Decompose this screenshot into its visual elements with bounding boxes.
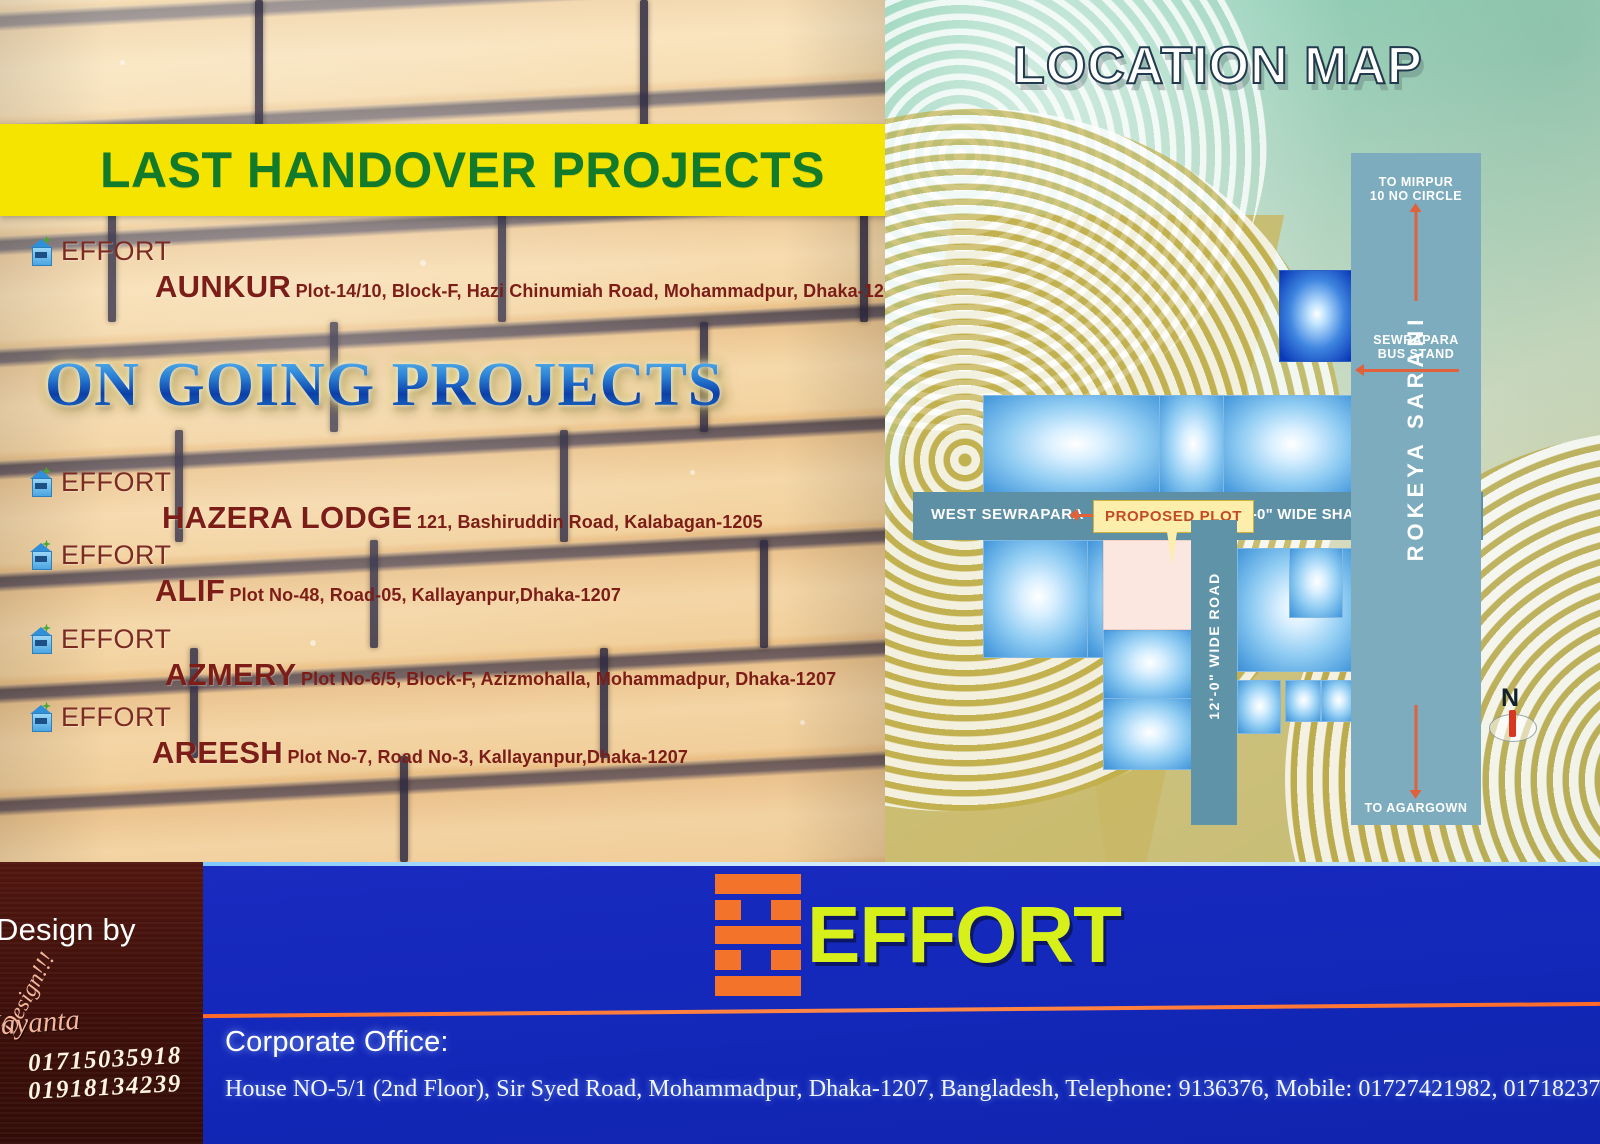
map-building-block	[1237, 680, 1281, 734]
project-brand-label: EFFORT	[61, 702, 172, 733]
project-address: Plot-14/10, Block-F, Hazi Chinumiah Road…	[296, 281, 905, 301]
project-name-line: ALIF Plot No-48, Road-05, Kallayanpur,Dh…	[0, 573, 890, 609]
last-handover-banner: LAST HANDOVER PROJECTS	[0, 124, 890, 216]
mortar-joint	[400, 756, 408, 862]
project-name: HAZERA LODGE	[162, 500, 412, 535]
project-brand-line: EFFORT	[0, 467, 890, 498]
west-sewrapara-label: WEST SEWRAPARA	[931, 506, 1084, 523]
to-agargown-arrow	[1415, 705, 1418, 791]
mortar-joint	[640, 0, 648, 128]
proposed-plot-block[interactable]	[1103, 540, 1193, 630]
footer-top-sheen	[203, 862, 1600, 866]
effort-logo: EFFORT	[715, 874, 1121, 996]
house-logo-icon	[30, 543, 52, 569]
map-building-block	[1279, 270, 1355, 362]
map-building-block	[1223, 395, 1355, 497]
north-letter: N	[1501, 684, 1519, 713]
project-name: AUNKUR	[155, 269, 291, 304]
mortar-joint	[255, 0, 263, 128]
twelve-foot-wide-road: 12'-0" WIDE ROAD	[1191, 520, 1237, 825]
rokeya-sarani-road: TO MIRPUR 10 NO CIRCLE SEWRAPARA BUS STA…	[1351, 153, 1481, 825]
map-building-block	[1159, 395, 1225, 497]
corporate-office-label: Corporate Office:	[225, 1026, 449, 1059]
project-brand-label: EFFORT	[61, 236, 172, 267]
project-brand-line: EFFORT	[0, 702, 890, 733]
to-agargown-note: TO AGARGOWN	[1351, 801, 1481, 815]
house-logo-icon	[30, 627, 52, 653]
designer-name: Jayanta	[0, 1004, 81, 1043]
map-building-block	[1103, 628, 1193, 700]
map-building-block	[1103, 698, 1193, 770]
last-handover-title: LAST HANDOVER PROJECTS	[0, 141, 825, 199]
house-logo-icon	[30, 239, 52, 265]
project-brand-line: EFFORT	[0, 540, 890, 571]
project-name-line: AREESH Plot No-7, Road No-3, Kallayanpur…	[0, 735, 890, 771]
map-building-block	[983, 395, 1161, 497]
house-logo-icon	[30, 705, 52, 731]
project-brand-line: EFFORT	[0, 236, 890, 267]
effort-logo-mark-icon	[715, 874, 805, 996]
project-entry-areesh: EFFORT AREESH Plot No-7, Road No-3, Kall…	[0, 702, 890, 771]
project-entry-azmery: EFFORT AZMERY Plot No-6/5, Block-F, Aziz…	[0, 624, 890, 693]
corporate-address: House NO-5/1 (2nd Floor), Sir Syed Road,…	[225, 1076, 1600, 1103]
project-name: AZMERY	[165, 657, 297, 692]
to-mirpur-line1: TO MIRPUR	[1379, 175, 1453, 189]
wide-road-label: 12'-0" WIDE ROAD	[1206, 572, 1222, 720]
project-name-line: HAZERA LODGE 121, Bashiruddin Road, Kala…	[0, 500, 890, 536]
to-agargown-label: TO AGARGOWN	[1365, 801, 1468, 815]
project-name: ALIF	[155, 573, 225, 608]
brick-speck	[120, 60, 125, 65]
project-address: Plot No-48, Road-05, Kallayanpur,Dhaka-1…	[230, 585, 621, 605]
project-name-line: AUNKUR Plot-14/10, Block-F, Hazi Chinumi…	[0, 269, 890, 305]
design-by-label: Design by	[0, 912, 136, 948]
project-brand-label: EFFORT	[61, 540, 172, 571]
project-entry-hazera-lodge: EFFORT HAZERA LODGE 121, Bashiruddin Roa…	[0, 467, 890, 536]
footer-orange-divider	[203, 1002, 1600, 1018]
map-building-block	[983, 540, 1089, 658]
project-name: AREESH	[152, 735, 283, 770]
footer-bar: EFFORT Corporate Office: House NO-5/1 (2…	[0, 862, 1600, 1144]
project-brand-line: EFFORT	[0, 624, 890, 655]
project-entry-alif: EFFORT ALIF Plot No-48, Road-05, Kallaya…	[0, 540, 890, 609]
map-building-block	[1289, 548, 1343, 618]
project-name-line: AZMERY Plot No-6/5, Block-F, Azizmohalla…	[0, 657, 890, 693]
north-compass: N	[1487, 688, 1541, 744]
flyer-page: LAST HANDOVER PROJECTS EFFORT AUNKUR Plo…	[0, 0, 1600, 1144]
footer-blue-bar: EFFORT Corporate Office: House NO-5/1 (2…	[203, 862, 1600, 1144]
ongoing-projects-heading: ON GOING PROJECTS	[45, 350, 723, 421]
compass-needle	[1509, 710, 1516, 737]
house-logo-icon	[30, 470, 52, 496]
project-address: 121, Bashiruddin Road, Kalabagan-1205	[417, 512, 763, 532]
rokeya-sarani-label: ROKEYA SARANI	[1403, 315, 1429, 562]
project-brand-label: EFFORT	[61, 624, 172, 655]
to-mirpur-arrow	[1415, 211, 1418, 301]
project-address: Plot No-6/5, Block-F, Azizmohalla, Moham…	[301, 669, 836, 689]
to-mirpur-line2: 10 NO CIRCLE	[1370, 189, 1462, 203]
location-map-title: LOCATION MAP	[1013, 36, 1423, 96]
design-by-panel: Design by Design!!! Jayanta 01715035918 …	[0, 862, 203, 1144]
project-brand-label: EFFORT	[61, 467, 172, 498]
project-entry-aunkur: EFFORT AUNKUR Plot-14/10, Block-F, Hazi …	[0, 236, 890, 305]
effort-logo-text: EFFORT	[807, 895, 1121, 975]
project-address: Plot No-7, Road No-3, Kallayanpur,Dhaka-…	[287, 747, 688, 767]
map-building-block	[1285, 680, 1321, 722]
to-mirpur-note: TO MIRPUR 10 NO CIRCLE	[1351, 175, 1481, 203]
map-building-block	[1321, 680, 1355, 722]
